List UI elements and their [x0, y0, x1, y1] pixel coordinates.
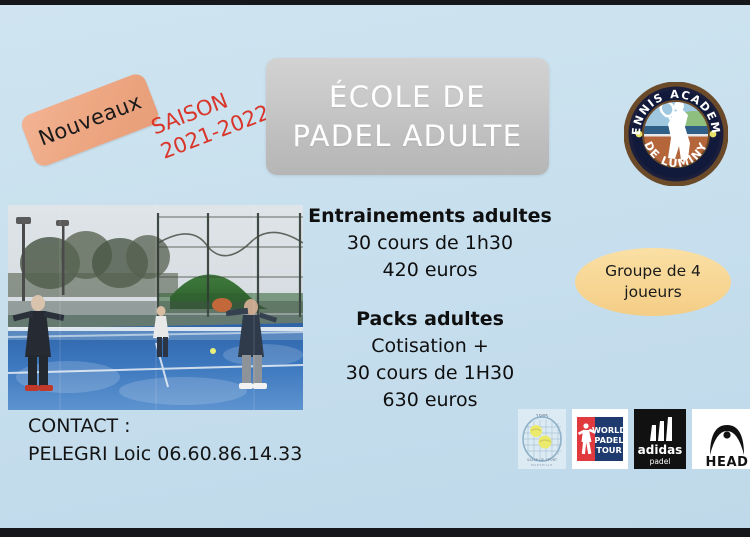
svg-text:HEAD: HEAD	[705, 455, 748, 469]
groupe-line-2: joueurs	[624, 282, 681, 303]
offer-text-block: Entrainements adultes 30 cours de 1h30 4…	[300, 203, 560, 414]
club-badge-logo: 1985 SALLE DE SPORT MARSE	[518, 409, 566, 473]
svg-text:WORLD: WORLD	[592, 425, 627, 435]
offer-section2-line-2: 30 cours de 1H30	[300, 360, 560, 387]
letterbox-bottom-bar	[0, 528, 750, 537]
world-padel-tour-logo: WORLD PADEL TOUR	[572, 409, 628, 473]
svg-text:TOUR: TOUR	[596, 445, 622, 455]
groupe-badge: Groupe de 4 joueurs	[575, 248, 731, 316]
nouveaux-badge: Nouveaux	[19, 71, 162, 169]
padel-court-photo	[8, 205, 303, 410]
svg-text:padel: padel	[650, 457, 671, 466]
svg-text:MARSEILLE: MARSEILLE	[531, 463, 553, 467]
nouveaux-badge-label: Nouveaux	[35, 89, 145, 150]
offer-spacer	[300, 284, 560, 306]
svg-text:PADEL: PADEL	[594, 435, 623, 445]
contact-person: PELEGRI Loic 06.60.86.14.33	[28, 441, 302, 469]
offer-section1-line-1: 30 cours de 1h30	[300, 230, 560, 257]
contact-block: CONTACT : PELEGRI Loic 06.60.86.14.33	[28, 413, 302, 468]
saison-text: SAISON 2021-2022	[148, 76, 273, 165]
adidas-padel-logo: adidas padel	[634, 409, 686, 473]
svg-text:SALLE DE SPORT: SALLE DE SPORT	[527, 458, 558, 462]
offer-section1-line-2: 420 euros	[300, 257, 560, 284]
title-box: ÉCOLE DE PADEL ADULTE	[266, 58, 549, 175]
slide-frame: Nouveaux SAISON 2021-2022 ÉCOLE DE PADEL…	[0, 0, 750, 537]
offer-section1-heading: Entrainements adultes	[300, 203, 560, 230]
title-line-1: ÉCOLE DE	[329, 78, 486, 116]
slide-canvas: Nouveaux SAISON 2021-2022 ÉCOLE DE PADEL…	[0, 5, 750, 528]
head-logo: HEAD	[692, 409, 750, 473]
offer-section2-line-1: Cotisation +	[300, 333, 560, 360]
contact-label: CONTACT :	[28, 413, 302, 441]
offer-section2-heading: Packs adultes	[300, 306, 560, 333]
tennis-academy-de-luminy-logo: TENNIS ACADEMY DE LUMINY	[624, 82, 728, 186]
svg-text:adidas: adidas	[638, 443, 683, 457]
title-line-2: PADEL ADULTE	[293, 117, 523, 155]
sponsor-strip: 1985 SALLE DE SPORT MARSE	[518, 409, 750, 473]
groupe-line-1: Groupe de 4	[605, 261, 701, 282]
